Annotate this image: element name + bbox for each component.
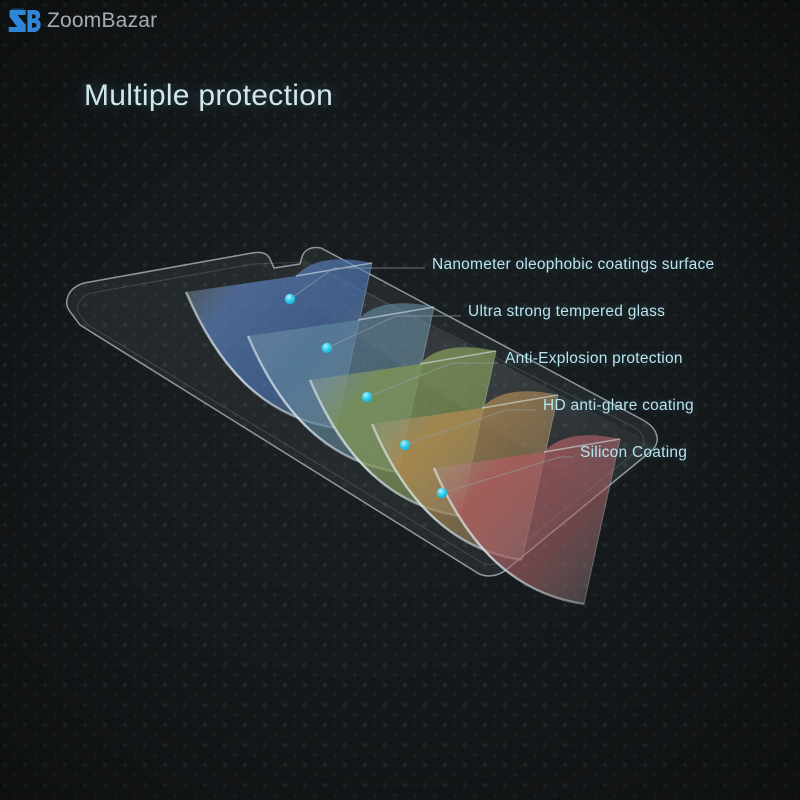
callout-label-anti-glare: HD anti-glare coating [543,397,694,415]
callout-label-anti-explosion: Anti-Explosion protection [505,350,683,368]
callout-label-tempered-glass: Ultra strong tempered glass [468,303,665,321]
product-feature-image: Nanometer oleophobic coatings surface Ul… [0,0,800,800]
callout-label-silicon: Silicon Coating [580,444,687,462]
brand-wordmark: ZoomBazar [47,9,157,33]
callout-label-nanometer: Nanometer oleophobic coatings surface [432,256,714,274]
brand-watermark: ZoomBazar [7,6,157,36]
page-title: Multiple protection [84,79,333,113]
zb-monogram-icon [7,6,41,36]
